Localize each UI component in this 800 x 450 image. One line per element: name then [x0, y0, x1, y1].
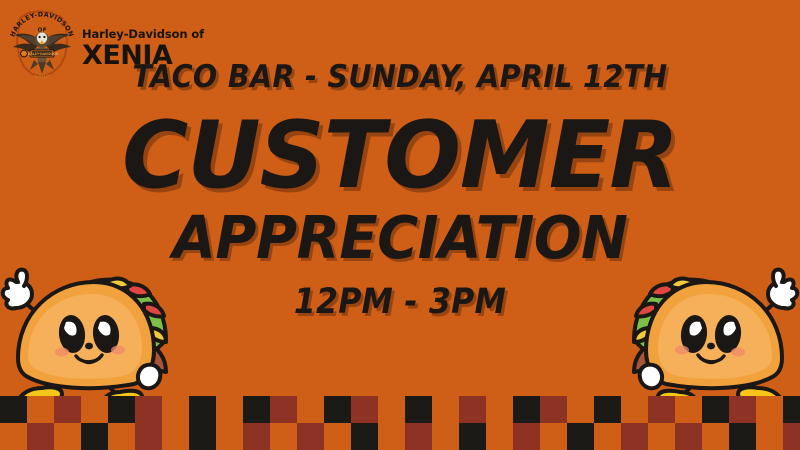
checker-cell	[567, 423, 594, 450]
checker-cell	[783, 396, 800, 423]
checker-row-top	[0, 396, 800, 423]
checkered-border	[0, 396, 800, 450]
checker-cell	[378, 423, 405, 450]
checker-cell	[405, 396, 432, 423]
checker-cell	[594, 396, 621, 423]
checker-cell	[351, 396, 378, 423]
checker-cell	[486, 396, 513, 423]
checker-cell	[675, 423, 702, 450]
taco-mascot-icon	[624, 242, 800, 412]
checker-cell	[108, 423, 135, 450]
checker-cell	[540, 396, 567, 423]
checker-cell	[567, 396, 594, 423]
checker-cell	[756, 396, 783, 423]
checker-cell	[729, 423, 756, 450]
checker-cell	[135, 423, 162, 450]
svg-text:HARLEY-DAVIDSON: HARLEY-DAVIDSON	[26, 52, 59, 56]
dealer-city-name: XENIA	[82, 42, 204, 69]
dealer-name-prefix: Harley-Davidson of	[82, 29, 204, 41]
checker-cell	[405, 423, 432, 450]
checker-cell	[189, 423, 216, 450]
checker-cell	[243, 423, 270, 450]
checker-cell	[270, 396, 297, 423]
checker-cell	[432, 396, 459, 423]
checker-cell	[297, 396, 324, 423]
checker-cell	[81, 396, 108, 423]
checker-cell	[486, 423, 513, 450]
checker-cell	[621, 423, 648, 450]
checker-cell	[756, 423, 783, 450]
checker-cell	[459, 396, 486, 423]
checker-cell	[648, 423, 675, 450]
checker-cell	[108, 396, 135, 423]
checker-cell	[729, 396, 756, 423]
checker-cell	[324, 396, 351, 423]
checker-cell	[648, 396, 675, 423]
checker-cell	[27, 423, 54, 450]
checker-cell	[702, 423, 729, 450]
checker-cell	[270, 423, 297, 450]
taco-mascot-icon	[0, 242, 176, 412]
poster-title-line-1: CUSTOMER	[12, 109, 788, 202]
svg-text:Ohio: Ohio	[35, 73, 50, 80]
checker-row-bottom	[0, 423, 800, 450]
checker-cell	[243, 396, 270, 423]
harley-davidson-eagle-emblem-icon: HARLEY-DAVIDSON OF Xenia HARLEY-DAVIDSON	[8, 4, 76, 80]
checker-cell	[54, 423, 81, 450]
checker-cell	[0, 396, 27, 423]
dealer-logo-lockup: HARLEY-DAVIDSON OF Xenia HARLEY-DAVIDSON	[8, 4, 204, 80]
checker-cell	[54, 396, 81, 423]
checker-cell	[513, 423, 540, 450]
checker-cell	[297, 423, 324, 450]
checker-cell	[135, 396, 162, 423]
dealer-wordmark: Harley-Davidson of XENIA	[82, 15, 204, 70]
checker-cell	[162, 396, 189, 423]
checker-cell	[27, 396, 54, 423]
checker-cell	[216, 423, 243, 450]
checker-cell	[351, 423, 378, 450]
checker-cell	[459, 423, 486, 450]
checker-cell	[702, 396, 729, 423]
checker-cell	[216, 396, 243, 423]
checker-cell	[324, 423, 351, 450]
checker-cell	[81, 423, 108, 450]
checker-cell	[621, 396, 648, 423]
checker-cell	[783, 423, 800, 450]
checker-cell	[513, 396, 540, 423]
checker-cell	[0, 423, 27, 450]
checker-cell	[378, 396, 405, 423]
checker-cell	[540, 423, 567, 450]
checker-cell	[432, 423, 459, 450]
customer-appreciation-poster: HARLEY-DAVIDSON OF Xenia HARLEY-DAVIDSON	[0, 0, 800, 450]
checker-cell	[162, 423, 189, 450]
checker-cell	[189, 396, 216, 423]
checker-cell	[675, 396, 702, 423]
checker-cell	[594, 423, 621, 450]
